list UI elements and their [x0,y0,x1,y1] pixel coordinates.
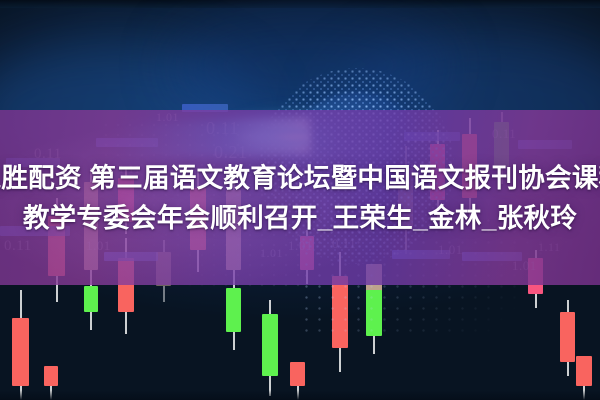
candlestick [12,290,29,400]
candlestick-body [262,314,278,376]
page-title: 永之胜配资 第三届语文教育论坛暨中国语文报刊协会课程与教学专委会年会顺利召开_王… [0,158,600,238]
candlestick-body [290,362,305,386]
candlestick-body [44,366,58,386]
candlestick-body [226,288,241,332]
bottom-edge-strip [0,390,600,400]
candlestick-body [576,356,592,386]
article-thumbnail-image: 0.110.210.110.111.011.111.011.010.111.01… [0,0,600,400]
candlestick-body [12,318,29,386]
candlestick [84,286,98,330]
candlestick-body [84,286,98,312]
candlestick [262,300,278,396]
headline-container: 永之胜配资 第三届语文教育论坛暨中国语文报刊协会课程与教学专委会年会顺利召开_王… [0,158,600,238]
candlestick [226,288,241,350]
